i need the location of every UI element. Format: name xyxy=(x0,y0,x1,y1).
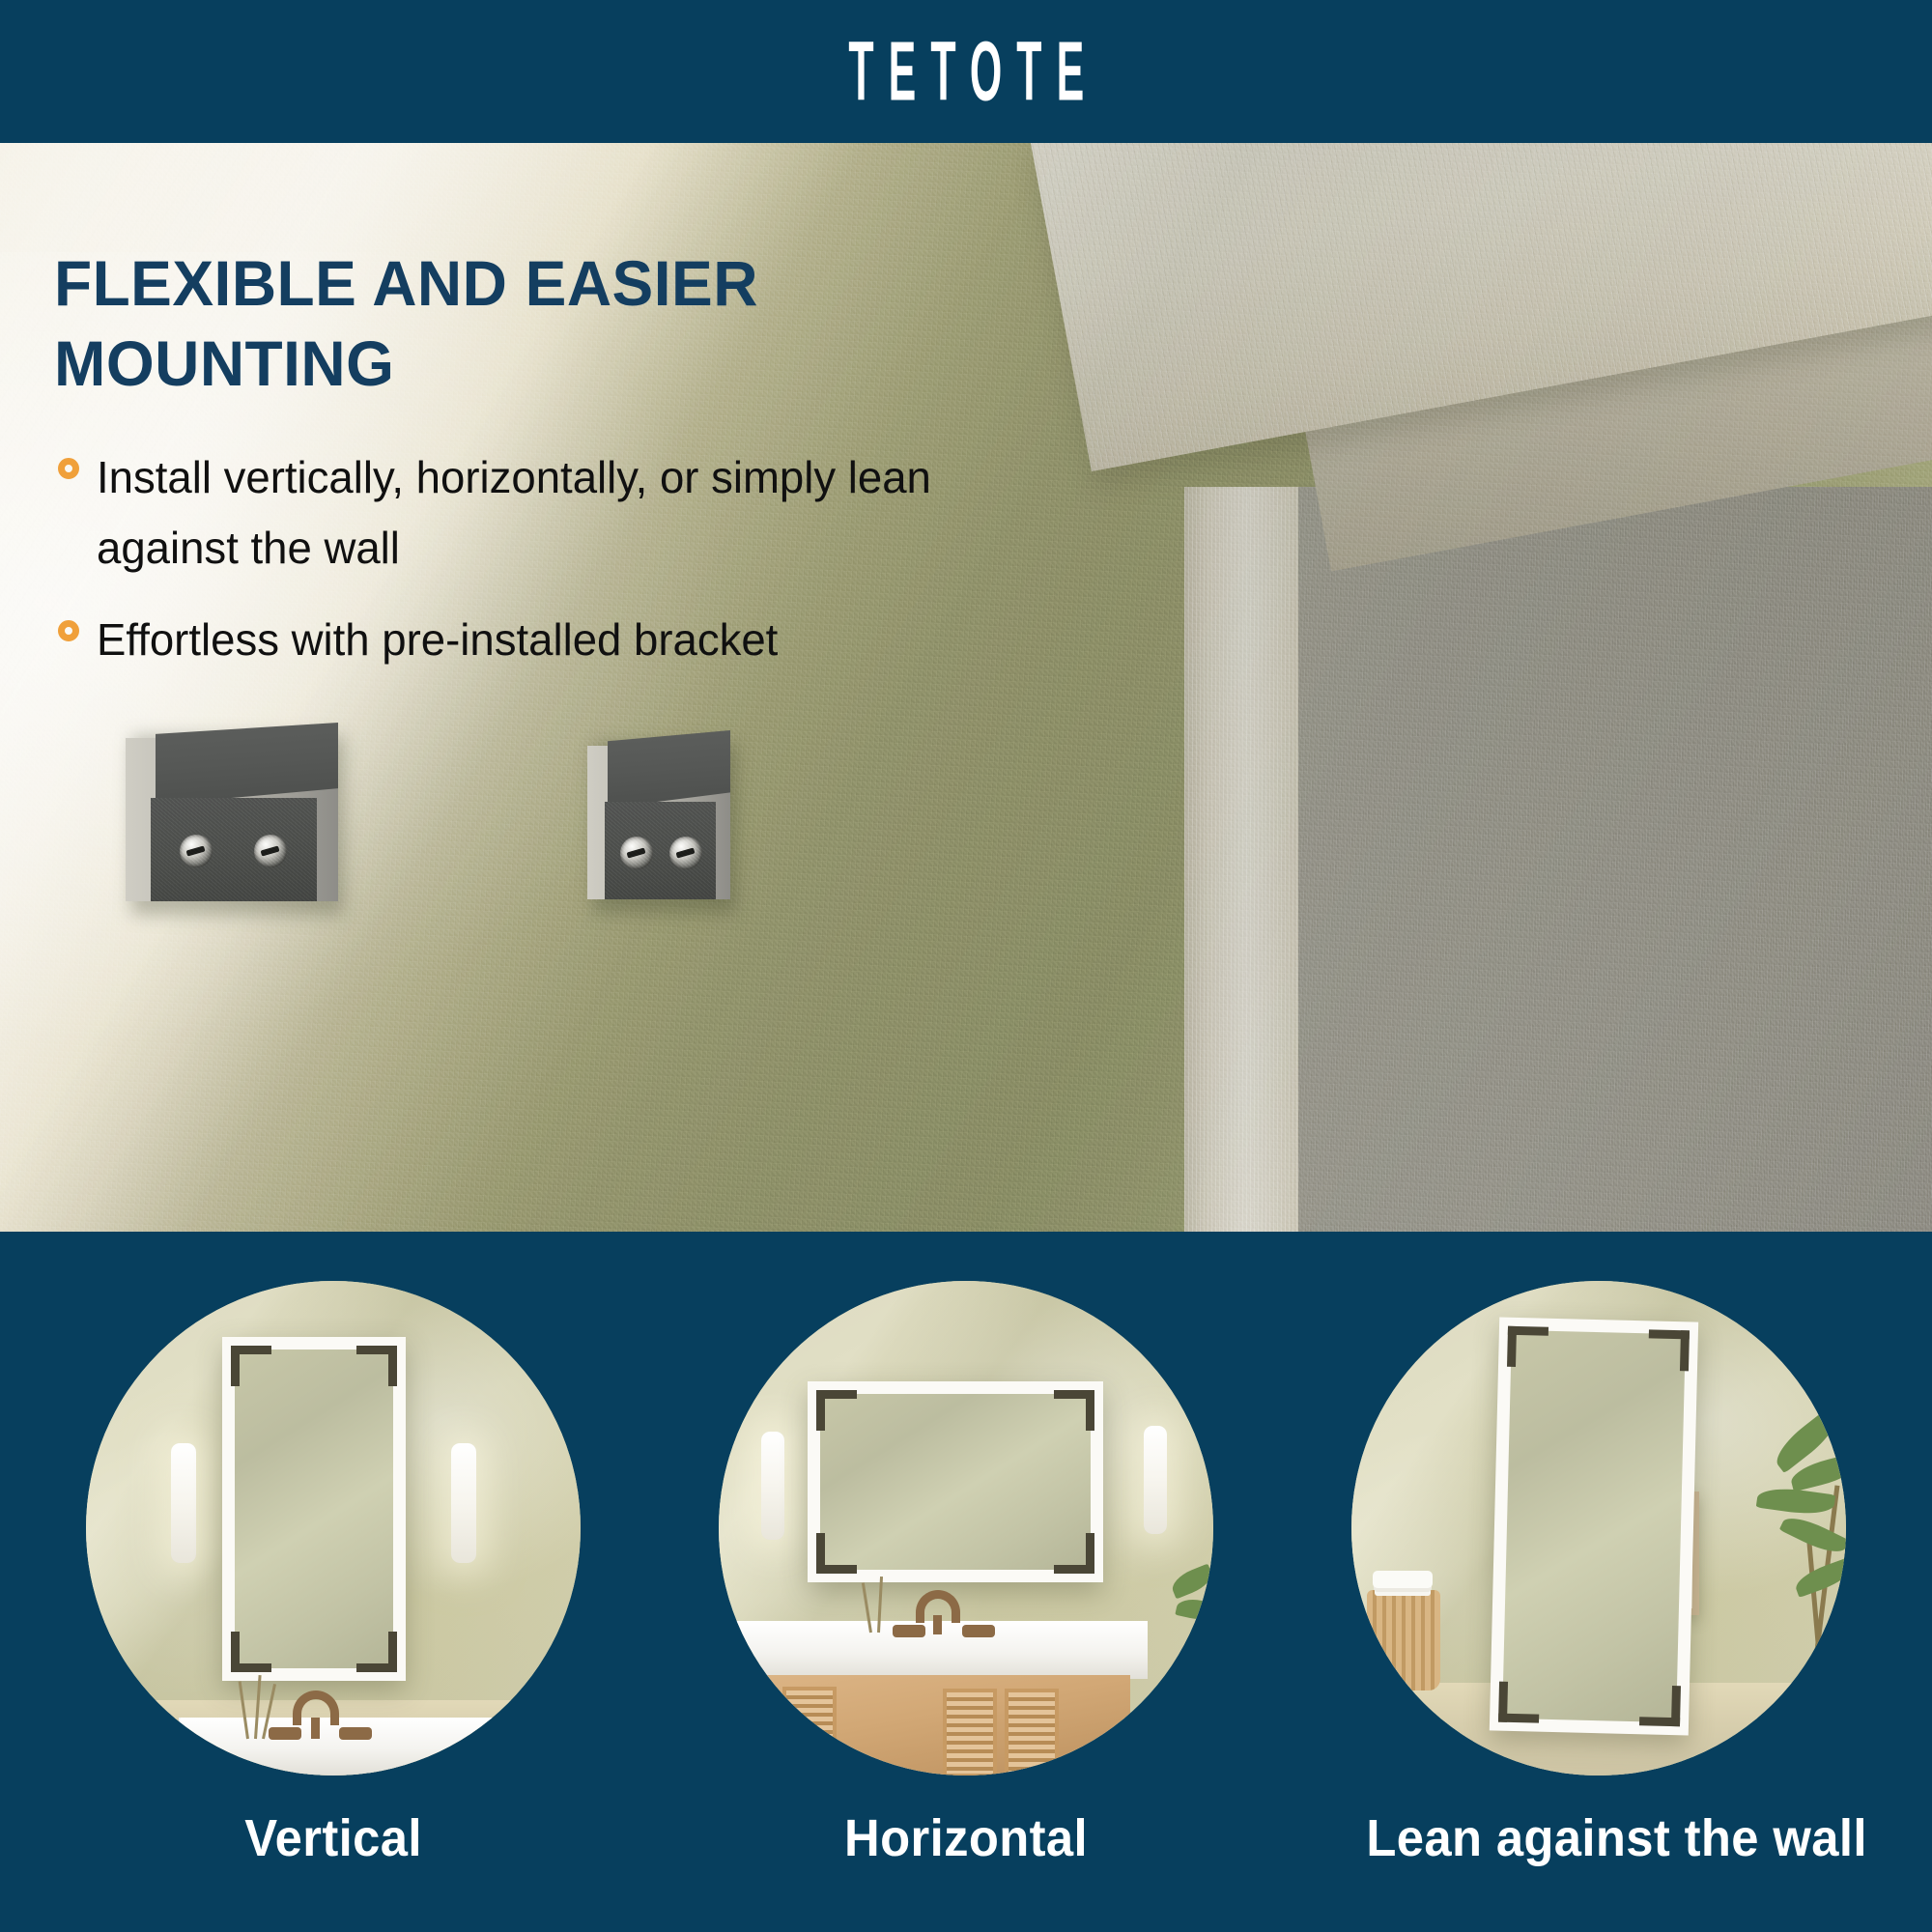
mirror-leaning xyxy=(1490,1318,1698,1736)
gallery-item-horizontal[interactable]: Horizontal xyxy=(719,1281,1213,1868)
feature-list: Install vertically, horizontally, or sim… xyxy=(54,442,1030,674)
list-item: Effortless with pre-installed bracket xyxy=(54,605,1030,675)
faucet-handle xyxy=(893,1625,925,1637)
hero-copy-block: FLEXIBLE AND EASIER MOUNTING Install ver… xyxy=(54,243,1030,696)
corner-bracket-icon xyxy=(231,1632,271,1672)
woven-basket xyxy=(1367,1590,1440,1690)
corner-bracket-icon xyxy=(356,1632,397,1672)
folded-towels xyxy=(1373,1571,1433,1588)
bracket-screw xyxy=(254,835,287,867)
corner-bracket-icon xyxy=(816,1390,857,1431)
bracket-screw xyxy=(669,837,702,869)
bracket-screw xyxy=(620,837,653,869)
list-item: Install vertically, horizontally, or sim… xyxy=(54,442,1030,582)
bullet-ring-icon xyxy=(58,458,79,479)
gallery-band: Vertical xyxy=(0,1232,1932,1932)
wall-sconce-left xyxy=(171,1443,196,1563)
corner-bracket-icon xyxy=(1639,1685,1681,1726)
wall-bracket-right xyxy=(587,730,730,899)
marble-countertop xyxy=(179,1718,497,1776)
mirror-vertical xyxy=(222,1337,406,1681)
mirror-glass xyxy=(820,1394,1091,1570)
louvered-door xyxy=(943,1689,997,1776)
corner-bracket-icon xyxy=(1507,1326,1548,1368)
corner-bracket-icon xyxy=(356,1346,397,1386)
mirror-glass xyxy=(1502,1330,1686,1722)
faucet-stem xyxy=(933,1615,942,1634)
gallery-row: Vertical xyxy=(0,1232,1932,1932)
corner-bracket-icon xyxy=(1648,1329,1690,1371)
faucet-handle xyxy=(269,1727,301,1740)
product-infographic: TETOTE xyxy=(0,0,1932,1932)
gallery-thumb-horizontal xyxy=(719,1281,1213,1776)
gallery-item-vertical[interactable]: Vertical xyxy=(86,1281,581,1868)
corner-bracket-icon xyxy=(816,1533,857,1574)
louvered-door xyxy=(1005,1689,1059,1776)
corner-bracket-icon xyxy=(1498,1682,1540,1723)
corner-bracket-icon xyxy=(1054,1390,1094,1431)
bracket-screw xyxy=(180,835,213,867)
gallery-caption: Horizontal xyxy=(733,1808,1198,1868)
mirror-glass xyxy=(235,1350,393,1668)
bracket-plate xyxy=(605,802,716,900)
page-title: FLEXIBLE AND EASIER MOUNTING xyxy=(54,243,1001,404)
wall-sconce-left xyxy=(761,1432,784,1540)
corner-bracket-icon xyxy=(1054,1533,1094,1574)
list-item-label: Effortless with pre-installed bracket xyxy=(97,605,778,675)
wall-sconce-right xyxy=(451,1443,476,1563)
faucet-handle xyxy=(962,1625,995,1637)
list-item-label: Install vertically, horizontally, or sim… xyxy=(97,442,1020,582)
wall-bracket-left xyxy=(126,723,338,901)
brand-wordmark: TETOTE xyxy=(834,29,1098,113)
gallery-thumb-vertical xyxy=(86,1281,581,1776)
gallery-item-lean[interactable]: Lean against the wall xyxy=(1351,1281,1846,1868)
mirror-horizontal xyxy=(808,1381,1103,1582)
wall-sconce-right xyxy=(1144,1426,1167,1534)
gallery-caption: Vertical xyxy=(100,1808,565,1868)
faucet-handle xyxy=(339,1727,372,1740)
bracket-plate xyxy=(151,798,317,901)
faucet-stem xyxy=(311,1718,320,1739)
bullet-ring-icon xyxy=(58,620,79,641)
corner-bracket-icon xyxy=(231,1346,271,1386)
gallery-thumb-lean xyxy=(1351,1281,1846,1776)
louvered-door xyxy=(782,1687,837,1776)
gallery-caption: Lean against the wall xyxy=(1366,1808,1831,1868)
brand-header-bar: TETOTE xyxy=(0,0,1932,143)
